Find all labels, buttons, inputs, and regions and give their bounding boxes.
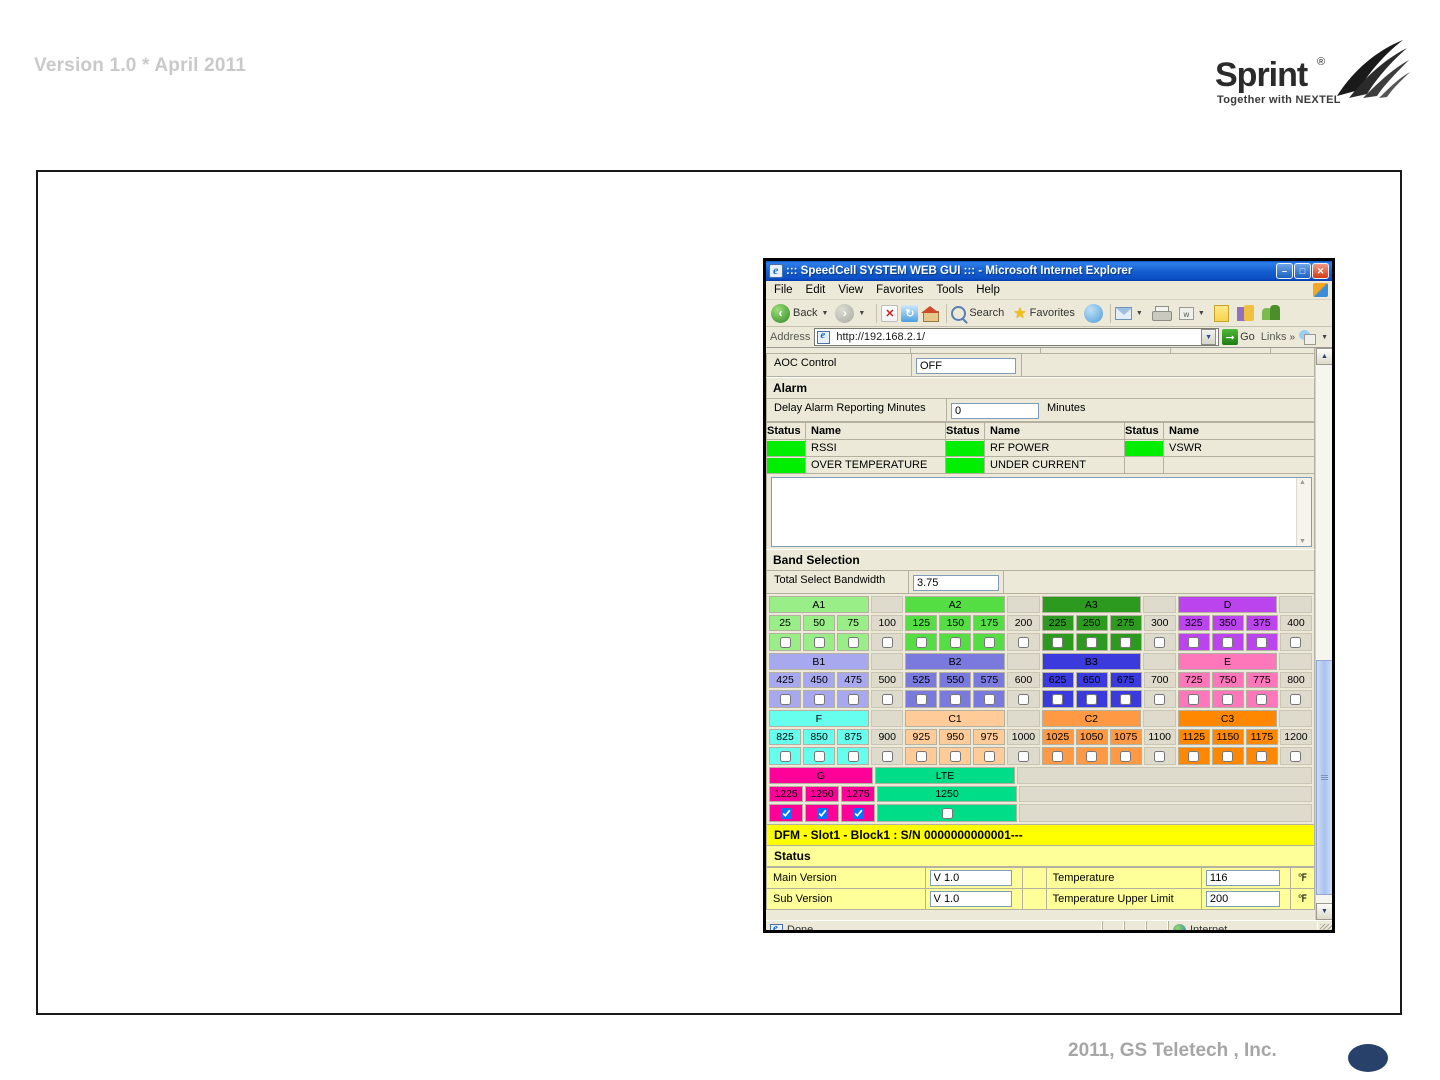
band-checkbox-cell-400[interactable] bbox=[1280, 633, 1312, 651]
checkbox-675[interactable] bbox=[1120, 694, 1131, 705]
edit-page-icon: w bbox=[1179, 307, 1194, 320]
band-channel-850: 850 bbox=[803, 729, 835, 745]
delay-alarm-label: Delay Alarm Reporting Minutes bbox=[767, 399, 947, 421]
checkbox-700[interactable] bbox=[1154, 694, 1165, 705]
footer-bullet-decoration bbox=[1348, 1044, 1388, 1072]
scrollbar-track[interactable] bbox=[1316, 365, 1332, 903]
page-viewport: ▲ ▼ AOC Control Al bbox=[766, 348, 1332, 920]
checkbox-900[interactable] bbox=[882, 751, 893, 762]
band-channel-1075: 1075 bbox=[1110, 729, 1142, 745]
log-scroll-down-icon[interactable]: ▼ bbox=[1299, 538, 1306, 545]
alarm-table-header-row: Status Name Status Name Status Name bbox=[767, 423, 1315, 440]
aoc-control-row: AOC Control bbox=[766, 354, 1315, 377]
checkbox-325[interactable] bbox=[1188, 637, 1199, 648]
checkbox-775[interactable] bbox=[1256, 694, 1267, 705]
checkbox-600[interactable] bbox=[1018, 694, 1029, 705]
band-checkbox-cell-75[interactable] bbox=[837, 633, 869, 651]
band-group-label-empty bbox=[1143, 710, 1176, 727]
search-button[interactable]: Search bbox=[951, 306, 1004, 321]
menu-item-edit[interactable]: Edit bbox=[806, 284, 826, 296]
checkbox-25[interactable] bbox=[780, 637, 791, 648]
band-checkbox-row bbox=[768, 632, 1313, 652]
band-checkbox-cell-1275[interactable] bbox=[841, 804, 875, 822]
checkbox-550[interactable] bbox=[950, 694, 961, 705]
checkbox-975[interactable] bbox=[984, 751, 995, 762]
dfm-unit-temperature: ℉ bbox=[1290, 868, 1314, 889]
sprint-wordmark: Sprint bbox=[1215, 56, 1307, 95]
notes-button[interactable] bbox=[1214, 305, 1229, 322]
checkbox-425[interactable] bbox=[780, 694, 791, 705]
dfm-temperature-upper-limit-input[interactable] bbox=[1206, 891, 1280, 907]
checkbox-725[interactable] bbox=[1188, 694, 1199, 705]
band-channel-100: 100 bbox=[871, 615, 903, 631]
checkbox-1050[interactable] bbox=[1086, 751, 1097, 762]
dfm-block-title: DFM - Slot1 - Block1 : S/N 0000000000001… bbox=[766, 825, 1315, 846]
band-channel-25: 25 bbox=[769, 615, 801, 631]
checkbox-350[interactable] bbox=[1222, 637, 1233, 648]
dfm-main-version-input[interactable] bbox=[930, 870, 1012, 886]
band-group-label-empty bbox=[1279, 710, 1312, 727]
dfm-temperature-input[interactable] bbox=[1206, 870, 1280, 886]
table-row: RSSI RF POWER VSWR bbox=[767, 440, 1315, 457]
total-bandwidth-value-cell bbox=[909, 571, 1004, 593]
people-button[interactable] bbox=[1262, 305, 1280, 321]
band-checkbox-cell-1250[interactable] bbox=[805, 804, 839, 822]
band-checkbox-cell-175[interactable] bbox=[973, 633, 1005, 651]
band-group-label-c1: C1 bbox=[905, 710, 1005, 727]
checkbox-100[interactable] bbox=[882, 637, 893, 648]
checkbox-750[interactable] bbox=[1222, 694, 1233, 705]
menu-item-favorites[interactable]: Favorites bbox=[876, 284, 923, 296]
home-button[interactable] bbox=[921, 305, 939, 321]
band-channel-650: 650 bbox=[1076, 672, 1108, 688]
stop-icon: ✕ bbox=[881, 305, 898, 322]
dfm-unit-sub-version bbox=[1023, 889, 1047, 910]
checkbox-225[interactable] bbox=[1052, 637, 1063, 648]
page-scrollbar[interactable]: ▲ ▼ bbox=[1315, 348, 1332, 920]
statusbar-zone-pane[interactable]: Internet bbox=[1168, 921, 1318, 933]
refresh-button[interactable]: ↻ bbox=[901, 305, 918, 322]
window-title: ::: SpeedCell SYSTEM WEB GUI ::: - Micro… bbox=[786, 265, 1276, 277]
menu-item-view[interactable]: View bbox=[838, 284, 863, 296]
checkbox-650[interactable] bbox=[1086, 694, 1097, 705]
toolbar-divider bbox=[876, 304, 877, 323]
forward-arrow-icon: › bbox=[835, 304, 854, 323]
band-checkbox-cell-775[interactable] bbox=[1246, 690, 1278, 708]
band-channel-900: 900 bbox=[871, 729, 903, 745]
band-checkbox-cell-1150[interactable] bbox=[1212, 747, 1244, 765]
band-checkbox-cell-475[interactable] bbox=[837, 690, 869, 708]
alarm-col-status-3: Status bbox=[1125, 423, 1164, 440]
band-channel-300: 300 bbox=[1144, 615, 1176, 631]
mail-icon bbox=[1115, 307, 1132, 320]
band-group-label-b1: B1 bbox=[769, 653, 869, 670]
search-icon bbox=[951, 306, 966, 321]
back-button[interactable]: ‹ Back ▼ bbox=[771, 304, 832, 323]
band-group-label-c2: C2 bbox=[1042, 710, 1142, 727]
band-group-label-a3: A3 bbox=[1042, 596, 1142, 613]
menu-item-file[interactable]: File bbox=[774, 284, 793, 296]
band-channel-950: 950 bbox=[939, 729, 971, 745]
aoc-control-input[interactable] bbox=[916, 358, 1016, 374]
band-checkbox-cell-275[interactable] bbox=[1110, 633, 1142, 651]
checkbox-500[interactable] bbox=[882, 694, 893, 705]
checkbox-150[interactable] bbox=[950, 637, 961, 648]
scroll-up-button[interactable]: ▲ bbox=[1316, 348, 1332, 365]
alarm-col-status-1: Status bbox=[767, 423, 806, 440]
sprint-registered-mark: ® bbox=[1317, 56, 1325, 68]
band-checkbox-cell-725[interactable] bbox=[1178, 690, 1210, 708]
close-button[interactable]: ✕ bbox=[1312, 263, 1329, 279]
checkbox-1100[interactable] bbox=[1154, 751, 1165, 762]
band-checkbox-cell-1025[interactable] bbox=[1042, 747, 1074, 765]
address-input-wrapper[interactable]: ▼ bbox=[814, 328, 1219, 346]
band-channel-275: 275 bbox=[1110, 615, 1142, 631]
alarm-name-rssi: RSSI bbox=[806, 440, 946, 457]
band-label-row: GLTE bbox=[768, 766, 1313, 785]
band-checkbox-cell-525[interactable] bbox=[905, 690, 937, 708]
dfm-unit-temperature-upper-limit: ℉ bbox=[1290, 889, 1314, 910]
scroll-down-button[interactable]: ▼ bbox=[1316, 903, 1332, 920]
band-group-label-c3: C3 bbox=[1178, 710, 1278, 727]
band-channel-200: 200 bbox=[1007, 615, 1039, 631]
band-checkbox-cell-925[interactable] bbox=[905, 747, 937, 765]
band-channel-825: 825 bbox=[769, 729, 801, 745]
maximize-button[interactable]: □ bbox=[1294, 263, 1311, 279]
dfm-status-title: Status bbox=[766, 846, 1315, 867]
band-checkbox-cell-1075[interactable] bbox=[1110, 747, 1142, 765]
alarm-col-status-2: Status bbox=[946, 423, 985, 440]
band-checkbox-cell-800[interactable] bbox=[1280, 690, 1312, 708]
links-label[interactable]: Links bbox=[1261, 331, 1287, 343]
menu-item-tools[interactable]: Tools bbox=[936, 284, 963, 296]
favorites-button[interactable]: ★ Favorites bbox=[1013, 304, 1075, 322]
band-channel-875: 875 bbox=[837, 729, 869, 745]
window-resize-handle[interactable] bbox=[1320, 924, 1332, 933]
statusbar-pane-3 bbox=[1146, 921, 1168, 933]
band-checkbox-cell-450[interactable] bbox=[803, 690, 835, 708]
band-channel-550: 550 bbox=[939, 672, 971, 688]
band-checkbox-cell-825[interactable] bbox=[769, 747, 801, 765]
msn-chevron-down-icon[interactable]: ▼ bbox=[1321, 334, 1328, 341]
page-content: AOC Control Alarm Delay Alarm Reporting … bbox=[766, 348, 1315, 910]
dfm-label-temperature-upper-limit: Temperature Upper Limit bbox=[1046, 889, 1201, 910]
band-checkbox-cell-100[interactable] bbox=[871, 633, 903, 651]
go-label: Go bbox=[1240, 331, 1255, 343]
band-channel-125: 125 bbox=[905, 615, 937, 631]
checkbox-625[interactable] bbox=[1052, 694, 1063, 705]
band-checkbox-cell-550[interactable] bbox=[939, 690, 971, 708]
band-channel-row: 2550751001251501752002252502753003253503… bbox=[768, 614, 1313, 632]
edit-button[interactable]: w ▼ bbox=[1179, 307, 1209, 320]
delay-alarm-unit: Minutes bbox=[1043, 399, 1090, 421]
band-checkbox-cell-625[interactable] bbox=[1042, 690, 1074, 708]
band-group-label-g: G bbox=[769, 767, 873, 784]
table-row: OVER TEMPERATURE UNDER CURRENT bbox=[767, 457, 1315, 474]
address-input[interactable] bbox=[834, 330, 1201, 344]
band-channel-1250: 1250 bbox=[877, 786, 1017, 802]
band-channel-775: 775 bbox=[1246, 672, 1278, 688]
band-checkbox-cell-200[interactable] bbox=[1007, 633, 1039, 651]
band-channel-row: 4254504755005255505756006256506757007257… bbox=[768, 671, 1313, 689]
checkbox-375[interactable] bbox=[1256, 637, 1267, 648]
alarm-log-textarea[interactable]: ▲ ▼ bbox=[771, 477, 1312, 547]
alarm-led-vswr bbox=[1125, 440, 1164, 457]
band-checkbox-cell-575[interactable] bbox=[973, 690, 1005, 708]
band-checkbox-cell-25[interactable] bbox=[769, 633, 801, 651]
band-group-label-empty bbox=[1007, 596, 1040, 613]
band-channel-675: 675 bbox=[1110, 672, 1142, 688]
home-icon bbox=[921, 305, 939, 321]
checkbox-1075[interactable] bbox=[1120, 751, 1131, 762]
edit-chevron-down-icon[interactable]: ▼ bbox=[1198, 310, 1205, 317]
aoc-control-value-cell bbox=[912, 354, 1022, 376]
checkbox-950[interactable] bbox=[950, 751, 961, 762]
band-channel-400: 400 bbox=[1280, 615, 1312, 631]
dfm-value-sub-version-cell bbox=[925, 889, 1022, 910]
sprint-wing-icon bbox=[1333, 38, 1411, 100]
checkbox-300[interactable] bbox=[1154, 637, 1165, 648]
checkbox-1250[interactable] bbox=[817, 808, 828, 819]
go-button[interactable]: ➞ Go bbox=[1222, 329, 1255, 345]
band-checkbox-cell-300[interactable] bbox=[1144, 633, 1176, 651]
forward-history-chevron-down-icon[interactable]: ▼ bbox=[858, 310, 865, 317]
alarm-led-rf-power bbox=[946, 440, 985, 457]
table-row: Sub Version Temperature Upper Limit ℉ bbox=[767, 889, 1315, 910]
band-checkbox-row bbox=[768, 746, 1313, 766]
dfm-value-temperature-cell bbox=[1201, 868, 1290, 889]
checkbox-575[interactable] bbox=[984, 694, 995, 705]
band-channel-525: 525 bbox=[905, 672, 937, 688]
band-checkbox-cell-1175[interactable] bbox=[1246, 747, 1278, 765]
messenger-button[interactable] bbox=[1237, 305, 1254, 322]
links-overflow-chevron-icon[interactable]: » bbox=[1290, 332, 1296, 343]
band-checkbox-cell-950[interactable] bbox=[939, 747, 971, 765]
checkbox-850[interactable] bbox=[814, 751, 825, 762]
total-bandwidth-input[interactable] bbox=[913, 575, 999, 591]
band-checkbox-cell-50[interactable] bbox=[803, 633, 835, 651]
band-group-label-b3: B3 bbox=[1042, 653, 1142, 670]
statusbar-pane-2 bbox=[1124, 921, 1146, 933]
band-checkbox-cell-1125[interactable] bbox=[1178, 747, 1210, 765]
band-checkbox-cell-350[interactable] bbox=[1212, 633, 1244, 651]
back-history-chevron-down-icon[interactable]: ▼ bbox=[821, 310, 828, 317]
checkbox-875[interactable] bbox=[848, 751, 859, 762]
address-label: Address bbox=[770, 331, 810, 343]
statusbar-message-pane: Done bbox=[766, 921, 1102, 933]
statusbar-zone-label: Internet bbox=[1190, 924, 1227, 933]
band-checkbox-cell-1050[interactable] bbox=[1076, 747, 1108, 765]
alarm-led-empty bbox=[1125, 457, 1164, 474]
band-channel-625: 625 bbox=[1042, 672, 1074, 688]
checkbox-800[interactable] bbox=[1290, 694, 1301, 705]
band-channel-150: 150 bbox=[939, 615, 971, 631]
checkbox-275[interactable] bbox=[1120, 637, 1131, 648]
stop-button[interactable]: ✕ bbox=[881, 305, 898, 322]
dfm-label-temperature: Temperature bbox=[1046, 868, 1201, 889]
checkbox-825[interactable] bbox=[780, 751, 791, 762]
dfm-unit-main-version bbox=[1023, 868, 1047, 889]
band-checkbox-cell-650[interactable] bbox=[1076, 690, 1108, 708]
checkbox-250[interactable] bbox=[1086, 637, 1097, 648]
band-channel-1150: 1150 bbox=[1212, 729, 1244, 745]
alarm-status-table: Status Name Status Name Status Name RSSI… bbox=[766, 422, 1315, 474]
checkbox-175[interactable] bbox=[984, 637, 995, 648]
alarm-led-under-current bbox=[946, 457, 985, 474]
dfm-sub-version-input[interactable] bbox=[930, 891, 1012, 907]
band-channel-175: 175 bbox=[973, 615, 1005, 631]
alarm-name-empty bbox=[1164, 457, 1315, 474]
checkbox-475[interactable] bbox=[848, 694, 859, 705]
status-page-icon bbox=[770, 924, 783, 934]
checkbox-1025[interactable] bbox=[1052, 751, 1063, 762]
band-channel-225: 225 bbox=[1042, 615, 1074, 631]
delay-alarm-input[interactable] bbox=[951, 403, 1039, 419]
band-checkbox-row bbox=[768, 803, 1313, 823]
notepad-icon bbox=[1214, 305, 1229, 322]
band-checkbox-cell-1000[interactable] bbox=[1007, 747, 1039, 765]
checkbox-525[interactable] bbox=[916, 694, 927, 705]
band-checkbox-cell-500[interactable] bbox=[871, 690, 903, 708]
browser-statusbar: Done Internet bbox=[766, 920, 1332, 933]
band-checkbox-cell-875[interactable] bbox=[837, 747, 869, 765]
checkbox-1250[interactable] bbox=[942, 808, 953, 819]
log-scrollbar[interactable]: ▲ ▼ bbox=[1296, 478, 1311, 546]
mail-chevron-down-icon[interactable]: ▼ bbox=[1136, 310, 1143, 317]
band-checkbox-cell-125[interactable] bbox=[905, 633, 937, 651]
dfm-status-table: Main Version Temperature ℉ Sub Version T… bbox=[766, 867, 1315, 910]
minimize-button[interactable]: – bbox=[1276, 263, 1293, 279]
band-channel-1225: 1225 bbox=[769, 786, 803, 802]
total-bandwidth-filler bbox=[1004, 571, 1314, 593]
address-bar: Address ▼ ➞ Go Links » ▼ bbox=[766, 327, 1332, 348]
msn-toolbar-icon[interactable] bbox=[1299, 330, 1315, 344]
band-channel-450: 450 bbox=[803, 672, 835, 688]
aoc-control-label: AOC Control bbox=[767, 354, 912, 376]
band-checkbox-cell-600[interactable] bbox=[1007, 690, 1039, 708]
checkbox-1150[interactable] bbox=[1222, 751, 1233, 762]
total-bandwidth-row: Total Select Bandwidth bbox=[766, 571, 1315, 594]
alarm-col-name-1: Name bbox=[806, 423, 946, 440]
alarm-led-rssi bbox=[767, 440, 806, 457]
checkbox-1125[interactable] bbox=[1188, 751, 1199, 762]
log-scroll-up-icon[interactable]: ▲ bbox=[1299, 479, 1306, 486]
band-group-label-empty bbox=[1279, 653, 1312, 670]
band-checkbox-1250[interactable] bbox=[877, 804, 1017, 822]
checkbox-925[interactable] bbox=[916, 751, 927, 762]
band-checkbox-cell-250[interactable] bbox=[1076, 633, 1108, 651]
checkbox-125[interactable] bbox=[916, 637, 927, 648]
band-channel-1200: 1200 bbox=[1280, 729, 1312, 745]
alarm-section-title: Alarm bbox=[766, 377, 1315, 399]
windows-flag-icon bbox=[1313, 283, 1328, 297]
band-label-spacer bbox=[1017, 767, 1312, 784]
checkbox-50[interactable] bbox=[814, 637, 825, 648]
band-channel-600: 600 bbox=[1007, 672, 1039, 688]
band-group-label-d: D bbox=[1178, 596, 1278, 613]
checkbox-200[interactable] bbox=[1018, 637, 1029, 648]
band-channel-350: 350 bbox=[1212, 615, 1244, 631]
print-button[interactable] bbox=[1152, 306, 1170, 320]
band-group-label-b2: B2 bbox=[905, 653, 1005, 670]
band-channel-50: 50 bbox=[803, 615, 835, 631]
globe-icon bbox=[1173, 924, 1186, 934]
band-channel-1100: 1100 bbox=[1144, 729, 1176, 745]
alarm-col-name-3: Name bbox=[1164, 423, 1315, 440]
checkbox-1000[interactable] bbox=[1018, 751, 1029, 762]
band-group-label-empty bbox=[1007, 653, 1040, 670]
band-group-label-empty bbox=[871, 653, 904, 670]
checkbox-400[interactable] bbox=[1290, 637, 1301, 648]
band-checkbox-cell-1225[interactable] bbox=[769, 804, 803, 822]
band-channel-475: 475 bbox=[837, 672, 869, 688]
history-button[interactable] bbox=[1084, 304, 1103, 323]
people-icon bbox=[1262, 305, 1280, 321]
band-checkbox-cell-225[interactable] bbox=[1042, 633, 1074, 651]
checkbox-1200[interactable] bbox=[1290, 751, 1301, 762]
mail-button[interactable]: ▼ bbox=[1115, 307, 1147, 320]
checkbox-1175[interactable] bbox=[1256, 751, 1267, 762]
band-checkbox-cell-1100[interactable] bbox=[1144, 747, 1176, 765]
band-channel-375: 375 bbox=[1246, 615, 1278, 631]
alarm-name-vswr: VSWR bbox=[1164, 440, 1315, 457]
checkbox-1225[interactable] bbox=[781, 808, 792, 819]
ie-logo-icon bbox=[769, 264, 783, 278]
band-checkbox-cell-700[interactable] bbox=[1144, 690, 1176, 708]
band-checkbox-cell-150[interactable] bbox=[939, 633, 971, 651]
band-checkbox-cell-325[interactable] bbox=[1178, 633, 1210, 651]
refresh-icon: ↻ bbox=[901, 305, 918, 322]
band-label-row: FC1C2C3 bbox=[768, 709, 1313, 728]
band-checkbox-cell-750[interactable] bbox=[1212, 690, 1244, 708]
scrollbar-thumb[interactable] bbox=[1316, 660, 1332, 895]
band-checkbox-cell-975[interactable] bbox=[973, 747, 1005, 765]
alarm-col-name-2: Name bbox=[985, 423, 1125, 440]
total-bandwidth-label: Total Select Bandwidth bbox=[767, 571, 909, 593]
toolbar-divider bbox=[946, 304, 947, 323]
dfm-value-main-version-cell bbox=[925, 868, 1022, 889]
window-titlebar[interactable]: ::: SpeedCell SYSTEM WEB GUI ::: - Micro… bbox=[766, 261, 1332, 281]
menu-item-help[interactable]: Help bbox=[976, 284, 1000, 296]
band-checkbox-cell-675[interactable] bbox=[1110, 690, 1142, 708]
table-row: Main Version Temperature ℉ bbox=[767, 868, 1315, 889]
band-checkbox-cell-850[interactable] bbox=[803, 747, 835, 765]
checkbox-450[interactable] bbox=[814, 694, 825, 705]
history-clock-icon bbox=[1084, 304, 1103, 323]
checkbox-1275[interactable] bbox=[853, 808, 864, 819]
band-checkbox-cell-900[interactable] bbox=[871, 747, 903, 765]
band-channel-500: 500 bbox=[871, 672, 903, 688]
band-channel-750: 750 bbox=[1212, 672, 1244, 688]
scrollbar-grip bbox=[1321, 775, 1328, 780]
browser-window: ::: SpeedCell SYSTEM WEB GUI ::: - Micro… bbox=[763, 258, 1335, 933]
band-channel-1125: 1125 bbox=[1178, 729, 1210, 745]
forward-button[interactable]: › ▼ bbox=[835, 304, 869, 323]
address-chevron-down-icon[interactable]: ▼ bbox=[1201, 329, 1216, 345]
band-group-label-empty bbox=[1143, 653, 1176, 670]
search-label: Search bbox=[969, 307, 1004, 319]
band-channel-425: 425 bbox=[769, 672, 801, 688]
toolbar-divider bbox=[1110, 304, 1111, 323]
checkbox-75[interactable] bbox=[848, 637, 859, 648]
statusbar-pane-1 bbox=[1102, 921, 1124, 933]
band-checkbox-cell-425[interactable] bbox=[769, 690, 801, 708]
printer-icon bbox=[1152, 306, 1170, 320]
band-checkbox-cell-1200[interactable] bbox=[1280, 747, 1312, 765]
band-group-label-empty bbox=[871, 596, 904, 613]
band-checkbox-cell-375[interactable] bbox=[1246, 633, 1278, 651]
band-group-label-a1: A1 bbox=[769, 596, 869, 613]
